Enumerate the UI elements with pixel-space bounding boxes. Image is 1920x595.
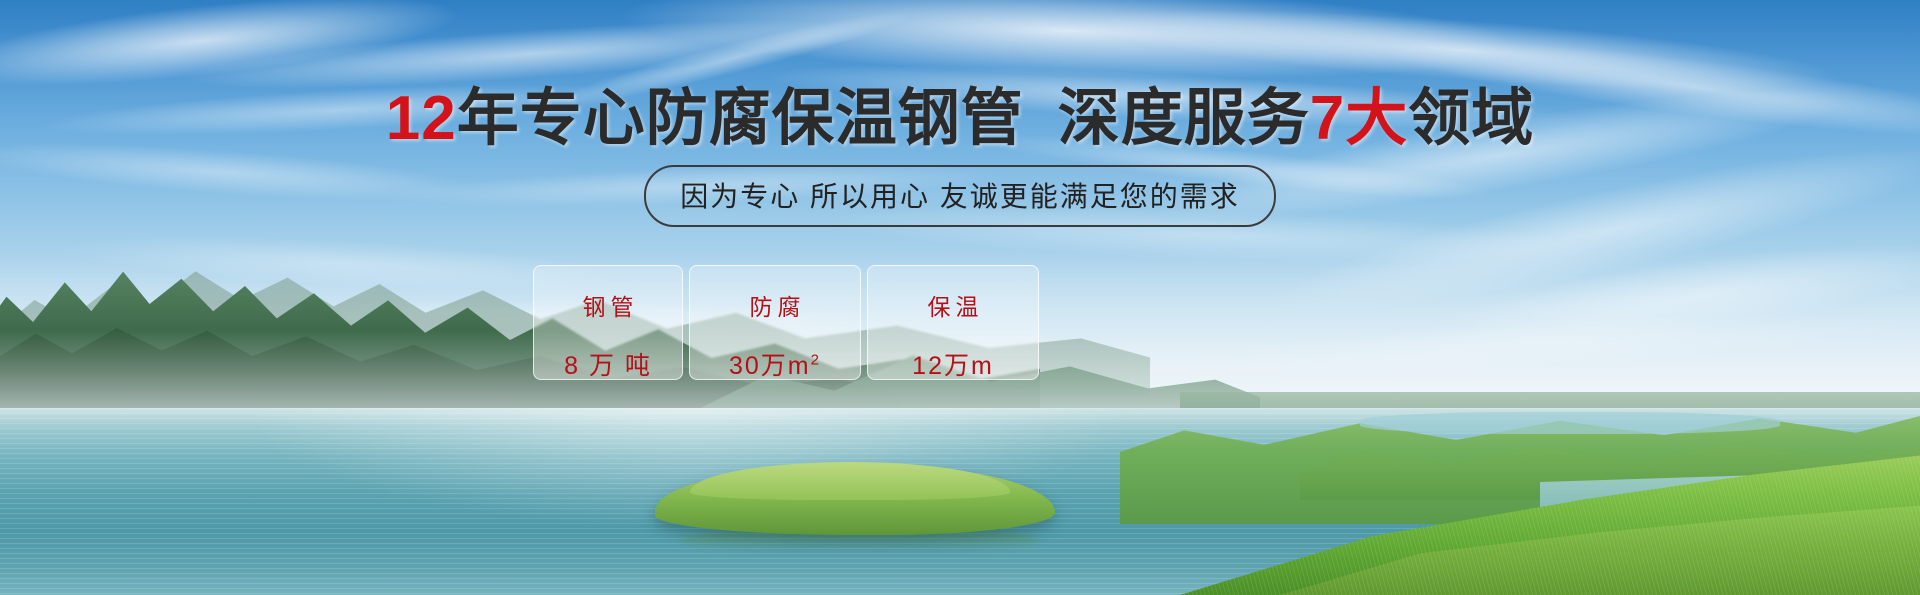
stat-card-insulation: 保温 12万m <box>867 265 1039 380</box>
stat-value: 30万m2 <box>729 346 821 382</box>
headline-fields-text: 领域 <box>1408 84 1534 153</box>
stat-value: 8 万 吨 <box>564 346 652 382</box>
page-title: 12年专心防腐保温钢管深度服务7大领域 <box>0 86 1920 153</box>
stat-label: 防腐 <box>745 288 806 322</box>
headline-service-text: 深度服务 <box>1058 84 1310 153</box>
stat-label: 保温 <box>923 288 984 322</box>
stat-value: 12万m <box>912 346 994 382</box>
stats-group: 钢管 8 万 吨 防腐 30万m2 保温 12万m <box>533 265 1039 380</box>
headline-main-text: 年专心防腐保温钢管 <box>457 84 1024 153</box>
headline-fields-count: 7大 <box>1310 84 1408 153</box>
stat-value-superscript: 2 <box>811 352 821 369</box>
stat-value-text: 8 万 吨 <box>564 352 652 380</box>
subtitle-container: 因为专心 所以用心 友诚更能满足您的需求 <box>0 165 1920 227</box>
stat-value-text: 12万m <box>912 352 994 380</box>
stat-card-steel-pipe: 钢管 8 万 吨 <box>533 265 683 380</box>
subtitle-pill: 因为专心 所以用心 友诚更能满足您的需求 <box>644 165 1276 227</box>
headline-years-number: 12 <box>386 84 457 153</box>
stat-card-anticorrosion: 防腐 30万m2 <box>689 265 861 380</box>
marsh-water-pool <box>1360 412 1780 434</box>
stat-label: 钢管 <box>578 288 639 322</box>
stat-value-text: 30万m <box>729 352 811 380</box>
hero-banner: 12年专心防腐保温钢管深度服务7大领域 因为专心 所以用心 友诚更能满足您的需求… <box>0 0 1920 595</box>
